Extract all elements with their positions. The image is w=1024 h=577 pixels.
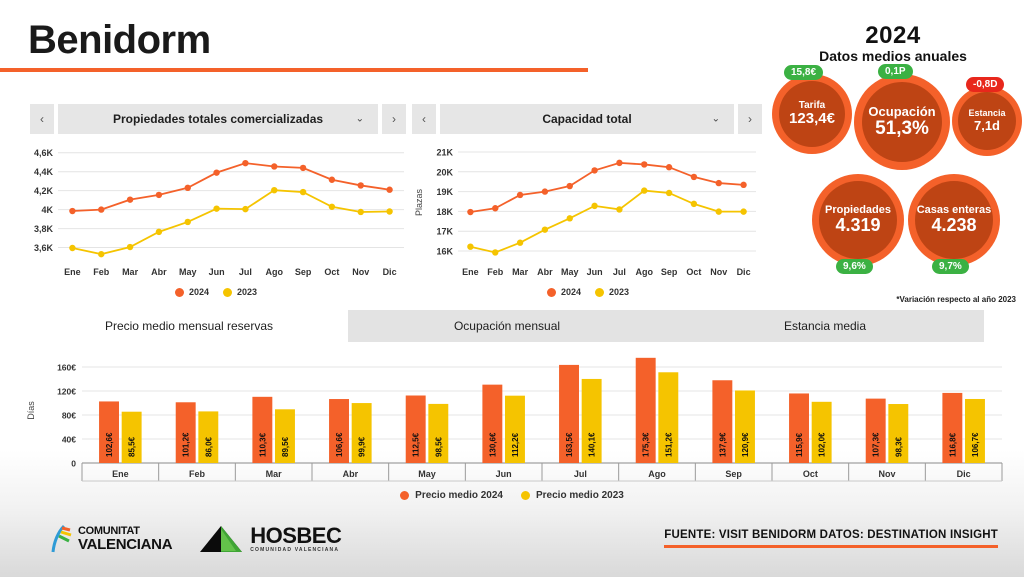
svg-text:3,8K: 3,8K	[34, 224, 54, 234]
svg-text:Nov: Nov	[710, 267, 727, 277]
svg-text:18K: 18K	[436, 207, 453, 217]
svg-text:17K: 17K	[436, 227, 453, 237]
svg-text:4,4K: 4,4K	[34, 167, 54, 177]
svg-text:98,5€: 98,5€	[434, 436, 443, 457]
footer-logos: COMUNITAT VALENCIANA HOSBEC COMUNIDAD VA…	[48, 523, 341, 555]
svg-text:Ago: Ago	[636, 267, 654, 277]
svg-text:85,5€: 85,5€	[128, 436, 137, 457]
svg-text:Jun: Jun	[209, 267, 225, 277]
source-underline-rule	[664, 545, 998, 548]
svg-text:Feb: Feb	[487, 267, 504, 277]
kpi-bubble-ocupacion: Ocupación 51,3% 0,1P	[854, 74, 950, 170]
svg-text:101,2€: 101,2€	[182, 432, 191, 457]
tab-label: Precio medio mensual reservas	[105, 319, 273, 333]
svg-text:3,6K: 3,6K	[34, 243, 54, 253]
kpi-tarifa-value: 123,4€	[789, 111, 835, 127]
tab-precio-medio-mensual-reservas[interactable]: Precio medio mensual reservas	[30, 310, 348, 342]
legend-label-precio-2023: Precio medio 2023	[536, 490, 624, 501]
line-chart-propiedades-totales: 3,6K3,8K4K4,2K4,4K4,6KEneFebMarAbrMayJun…	[20, 140, 412, 305]
kpi-casas-badge: 9,7%	[932, 259, 969, 274]
svg-text:Oct: Oct	[686, 267, 701, 277]
legend-swatch-precio-2024	[400, 491, 409, 500]
svg-text:99,9€: 99,9€	[358, 436, 367, 457]
svg-text:16K: 16K	[436, 247, 453, 257]
svg-text:Abr: Abr	[343, 469, 359, 479]
svg-text:Mar: Mar	[122, 267, 139, 277]
hosbec-subtitle: COMUNIDAD VALENCIANA	[250, 547, 341, 553]
svg-text:98,3€: 98,3€	[894, 436, 903, 457]
svg-text:137,9€: 137,9€	[718, 432, 727, 457]
tab-label: Estancia media	[784, 319, 866, 333]
svg-text:40€: 40€	[62, 435, 76, 445]
line-chart-capacidad-legend: 2024 2023	[412, 287, 764, 297]
prev-metric-button-left[interactable]: ‹	[30, 104, 54, 134]
svg-text:115,9€: 115,9€	[795, 432, 804, 457]
svg-text:Ene: Ene	[112, 469, 129, 479]
svg-text:Sep: Sep	[661, 267, 678, 277]
kpi-bubble-estancia: Estancia 7,1d -0,8D	[952, 74, 1022, 170]
svg-text:Oct: Oct	[803, 469, 818, 479]
kpi-bubble-propiedades: Propiedades 4.319 9,6%	[812, 174, 904, 266]
svg-text:Feb: Feb	[93, 267, 110, 277]
kpi-estancia-value: 7,1d	[974, 119, 1000, 133]
hosbec-triangle-icon	[198, 523, 244, 555]
svg-text:Dic: Dic	[957, 469, 971, 479]
hosbec-wordmark: HOSBEC	[250, 525, 341, 547]
kpi-ocupacion-value: 51,3%	[875, 119, 929, 139]
svg-text:4K: 4K	[41, 205, 53, 215]
bar-chart-svg: 040€80€120€160€Días102,6€85,5€Ene101,2€8…	[20, 352, 1010, 487]
kpi-subtitle: Datos medios anuales	[764, 48, 1022, 64]
bar-chart-legend: Precio medio 2024 Precio medio 2023	[0, 490, 1024, 501]
metric-dropdown-left-label: Propiedades totales comercializadas	[113, 112, 323, 126]
metric-dropdown-right-label: Capacidad total	[542, 112, 631, 126]
svg-text:130,6€: 130,6€	[488, 432, 497, 457]
svg-text:May: May	[418, 469, 436, 479]
svg-text:Plazas: Plazas	[414, 188, 424, 216]
line-chart-capacidad-svg: 16K17K18K19K20K21KPlazasEneFebMarAbrMayJ…	[412, 140, 764, 285]
svg-text:Jun: Jun	[587, 267, 603, 277]
svg-text:Sep: Sep	[725, 469, 742, 479]
kpi-bubble-tarifa: Tarifa 123,4€ 15,8€	[772, 74, 852, 170]
title-underline-rule	[0, 68, 588, 72]
svg-text:175,3€: 175,3€	[642, 432, 651, 457]
svg-text:Mar: Mar	[266, 469, 283, 479]
metric-dropdown-right[interactable]: Capacidad total ⌄	[440, 104, 734, 134]
legend-label-2023: 2023	[237, 287, 257, 297]
chart-tabs: Precio medio mensual reservas Ocupación …	[30, 310, 984, 342]
logo-comunitat-valenciana: COMUNITAT VALENCIANA	[48, 524, 172, 554]
comunitat-valenciana-wordmark: COMUNITAT VALENCIANA	[78, 526, 172, 552]
svg-text:Ene: Ene	[462, 267, 479, 277]
svg-text:106,6€: 106,6€	[335, 432, 344, 457]
svg-text:Oct: Oct	[324, 267, 339, 277]
svg-text:80€: 80€	[62, 411, 76, 421]
svg-text:Nov: Nov	[352, 267, 369, 277]
svg-text:Jun: Jun	[496, 469, 512, 479]
logo-hosbec: HOSBEC COMUNIDAD VALENCIANA	[198, 523, 341, 555]
svg-text:Jul: Jul	[239, 267, 252, 277]
metric-dropdown-left[interactable]: Propiedades totales comercializadas ⌄	[58, 104, 378, 134]
svg-text:4,2K: 4,2K	[34, 186, 54, 196]
svg-text:0: 0	[71, 459, 76, 469]
legend-label-precio-2024: Precio medio 2024	[415, 490, 503, 501]
svg-text:Dic: Dic	[383, 267, 397, 277]
svg-text:151,2€: 151,2€	[664, 432, 673, 457]
kpi-ocupacion-badge: 0,1P	[878, 64, 913, 79]
svg-text:86,0€: 86,0€	[204, 436, 213, 457]
page-title: Benidorm	[28, 18, 211, 63]
line-chart-capacidad-total: 16K17K18K19K20K21KPlazasEneFebMarAbrMayJ…	[412, 140, 764, 305]
svg-text:Ago: Ago	[648, 469, 666, 479]
svg-text:89,5€: 89,5€	[281, 436, 290, 457]
legend-swatch-2023	[223, 288, 232, 297]
kpi-bubble-row-bottom: Propiedades 4.319 9,6% Casas enteras 4.2…	[812, 174, 1000, 266]
source-attribution: FUENTE: VISIT BENIDORM DATOS: DESTINATIO…	[664, 529, 998, 548]
kpi-year: 2024	[764, 22, 1022, 50]
source-text: FUENTE: VISIT BENIDORM DATOS: DESTINATIO…	[664, 529, 998, 541]
legend-label-2024: 2024	[189, 287, 209, 297]
legend-swatch-2024	[175, 288, 184, 297]
svg-text:112,5€: 112,5€	[412, 432, 421, 457]
tab-ocupacion-mensual[interactable]: Ocupación mensual	[348, 310, 666, 342]
svg-text:19K: 19K	[436, 187, 453, 197]
svg-text:Días: Días	[26, 401, 36, 420]
chevron-down-icon: ⌄	[712, 114, 720, 125]
svg-text:Abr: Abr	[151, 267, 167, 277]
legend-swatch-2024	[547, 288, 556, 297]
kpi-tarifa-badge: 15,8€	[784, 65, 823, 80]
svg-text:Jul: Jul	[613, 267, 626, 277]
svg-text:Ago: Ago	[266, 267, 284, 277]
svg-text:4,6K: 4,6K	[34, 148, 54, 158]
svg-text:102,6€: 102,6€	[105, 432, 114, 457]
comunitat-valenciana-icon	[48, 524, 74, 554]
kpi-propiedades-badge: 9,6%	[836, 259, 873, 274]
svg-text:106,7€: 106,7€	[971, 432, 980, 457]
svg-text:107,3€: 107,3€	[872, 432, 881, 457]
svg-text:Mar: Mar	[512, 267, 529, 277]
kpi-estancia-badge: -0,8D	[966, 77, 1004, 92]
chart-selector-propiedades: ‹ Propiedades totales comercializadas ⌄ …	[30, 104, 406, 134]
legend-swatch-precio-2023	[521, 491, 530, 500]
svg-text:Sep: Sep	[295, 267, 312, 277]
chart-selector-capacidad: ‹ Capacidad total ⌄ ›	[412, 104, 762, 134]
next-metric-button-right[interactable]: ›	[738, 104, 762, 134]
chevron-down-icon: ⌄	[356, 114, 364, 125]
svg-text:20K: 20K	[436, 167, 453, 177]
svg-text:May: May	[561, 267, 579, 277]
logo-cv-line2: VALENCIANA	[78, 537, 172, 552]
line-chart-propiedades-legend: 2024 2023	[20, 287, 412, 297]
svg-text:120€: 120€	[57, 387, 76, 397]
tab-estancia-media[interactable]: Estancia media	[666, 310, 984, 342]
svg-text:110,3€: 110,3€	[258, 432, 267, 457]
bar-chart-precio-medio: 040€80€120€160€Días102,6€85,5€Ene101,2€8…	[20, 352, 1010, 487]
svg-text:160€: 160€	[57, 363, 76, 373]
svg-text:21K: 21K	[436, 147, 453, 157]
kpi-bubble-row-top: Tarifa 123,4€ 15,8€ Ocupación 51,3% 0,1P…	[772, 74, 1022, 170]
kpi-ocupacion-name: Ocupación	[868, 105, 935, 119]
svg-text:Dic: Dic	[737, 267, 751, 277]
next-metric-button-left[interactable]: ›	[382, 104, 406, 134]
line-chart-propiedades-svg: 3,6K3,8K4K4,2K4,4K4,6KEneFebMarAbrMayJun…	[20, 140, 412, 285]
svg-text:Jul: Jul	[574, 469, 587, 479]
legend-label-2024: 2024	[561, 287, 581, 297]
svg-text:Abr: Abr	[537, 267, 553, 277]
svg-text:May: May	[179, 267, 197, 277]
svg-text:140,1€: 140,1€	[588, 432, 597, 457]
svg-text:116,8€: 116,8€	[948, 432, 957, 457]
tab-label: Ocupación mensual	[454, 319, 560, 333]
legend-swatch-2023	[595, 288, 604, 297]
svg-text:Ene: Ene	[64, 267, 81, 277]
page-footer: COMUNITAT VALENCIANA HOSBEC COMUNIDAD VA…	[0, 505, 1024, 577]
svg-text:112,2€: 112,2€	[511, 432, 520, 457]
svg-text:Nov: Nov	[878, 469, 895, 479]
svg-text:120,9€: 120,9€	[741, 432, 750, 457]
kpi-summary-panel: 2024 Datos medios anuales Tarifa 123,4€ …	[764, 22, 1022, 304]
kpi-casas-value: 4.238	[931, 216, 976, 235]
prev-metric-button-right[interactable]: ‹	[412, 104, 436, 134]
svg-text:Feb: Feb	[189, 469, 206, 479]
svg-text:163,5€: 163,5€	[565, 432, 574, 457]
kpi-footnote: *Variación respecto al año 2023	[896, 295, 1016, 304]
kpi-bubble-casas-enteras: Casas enteras 4.238 9,7%	[908, 174, 1000, 266]
legend-label-2023: 2023	[609, 287, 629, 297]
kpi-propiedades-value: 4.319	[835, 216, 880, 235]
svg-text:102,0€: 102,0€	[818, 432, 827, 457]
